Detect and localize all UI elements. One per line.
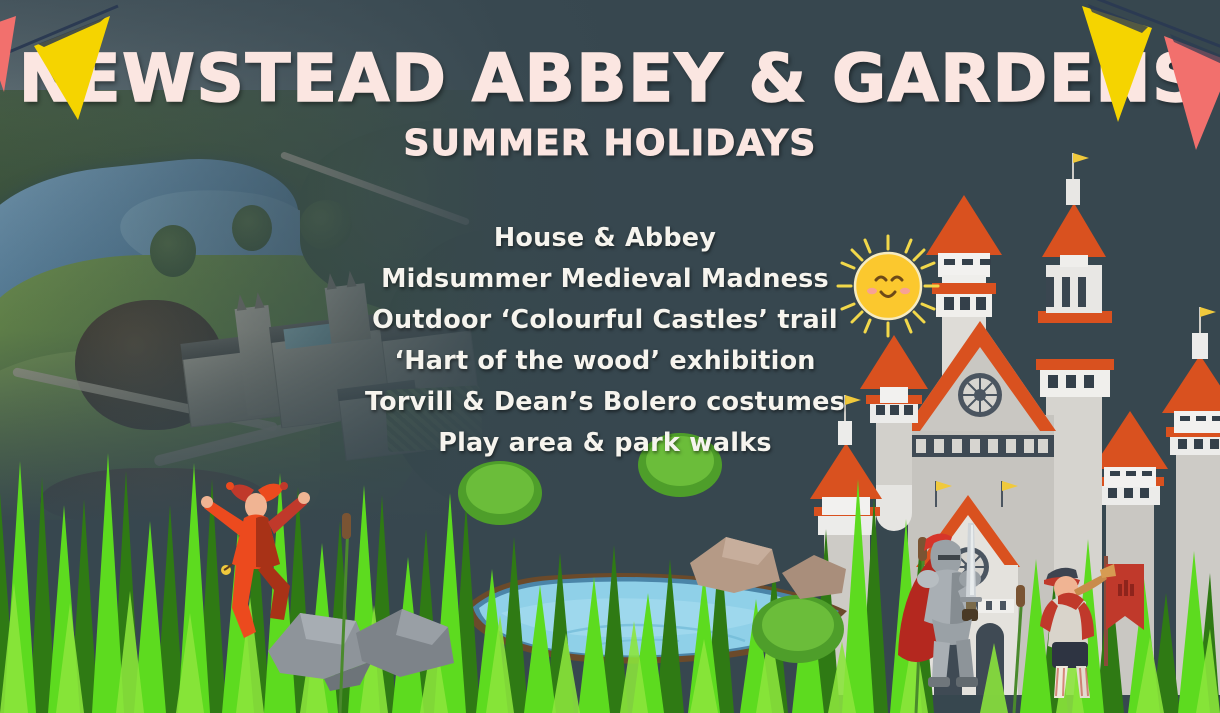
- bunting-right: [1060, 0, 1220, 150]
- list-item: Outdoor ‘Colourful Castles’ trail: [345, 302, 865, 338]
- jester-illustration: [196, 478, 316, 643]
- list-item: Midsummer Medieval Madness: [345, 261, 865, 297]
- page-subtitle: SUMMER HOLIDAYS: [0, 126, 1220, 162]
- list-item: ‘Hart of the wood’ exhibition: [345, 343, 865, 379]
- title-block: NEWSTEAD ABBEY & GARDENS SUMMER HOLIDAYS: [0, 0, 1220, 162]
- castle-tower-far-right: [1162, 307, 1220, 695]
- jester-leg-left: [232, 562, 256, 638]
- knight-pauldron-left: [917, 570, 939, 588]
- activity-list: House & Abbey Midsummer Medieval Madness…: [345, 220, 865, 466]
- list-item: House & Abbey: [345, 220, 865, 256]
- sun-blush-right: [900, 288, 910, 294]
- bunting-left: [0, 0, 150, 150]
- knight-leg-left: [932, 641, 950, 683]
- pond-illustration: [455, 555, 855, 670]
- sun-face: [855, 253, 921, 319]
- bunting-flag-yellow: [1082, 6, 1152, 122]
- bunting-flag-coral: [0, 16, 16, 92]
- herald-breeches: [1052, 642, 1088, 668]
- knight-sword-hilt: [966, 601, 976, 609]
- page-title: NEWSTEAD ABBEY & GARDENS: [0, 0, 1220, 112]
- jester-leg-right: [258, 562, 290, 620]
- poster: NEWSTEAD ABBEY & GARDENS SUMMER HOLIDAYS…: [0, 0, 1220, 713]
- knight-leg-right: [956, 639, 974, 681]
- list-item: Play area & park walks: [345, 425, 865, 461]
- herald-illustration: [1036, 548, 1146, 698]
- knight-crossguard: [960, 597, 982, 602]
- sun-blush-left: [867, 288, 877, 294]
- knight-visor: [938, 555, 960, 560]
- list-item: Torvill & Dean’s Bolero costumes: [345, 384, 865, 420]
- knight-gauntlet: [962, 609, 978, 621]
- sun-icon: [836, 234, 940, 338]
- knight-illustration: [896, 525, 1006, 695]
